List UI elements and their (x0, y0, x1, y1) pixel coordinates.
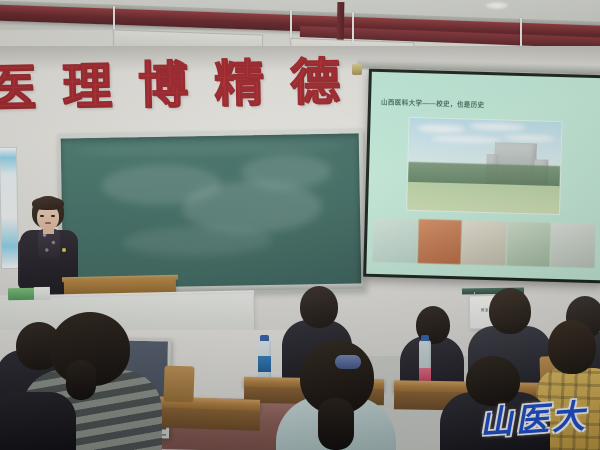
presenter-fringe (32, 197, 64, 210)
presenter-mouth (45, 222, 51, 224)
motto-banner: 医 理 博 精 德 (0, 48, 377, 121)
chalk-smudge (241, 154, 332, 190)
hanging-wire (352, 12, 354, 44)
ceiling-light-glare (486, 2, 508, 9)
banner-char: 医 (0, 63, 37, 114)
desk-front-panel (150, 407, 261, 431)
slide-title: 山西医科大学——校史，也是历史 (381, 96, 485, 109)
slide-surface: 山西医科大学——校史，也是历史 (366, 72, 600, 280)
audience-head (300, 286, 338, 328)
slide-thumbnail (373, 218, 418, 263)
university-watermark: 山 医 大 (469, 392, 596, 447)
wall-poster-left (0, 147, 19, 269)
green-chalkboard (57, 128, 366, 295)
photo-scene: 医 理 博 精 德 山西医科大学——校史，也是历史 (0, 0, 600, 450)
audience-foreground-left (0, 392, 76, 450)
banner-char: 精 (214, 58, 265, 109)
audience-ponytail (318, 398, 354, 450)
slide-thumbnail (462, 220, 507, 265)
bottle-cap (260, 335, 269, 341)
slide-campus-photo (406, 117, 563, 215)
hair-scrunchie (335, 355, 361, 369)
bottle-label (258, 356, 271, 372)
watermark-char: 山 (478, 404, 513, 439)
screen-pull-knob[interactable] (352, 64, 362, 75)
photo-lawn (407, 182, 560, 214)
slide-thumbnail-strip (373, 218, 596, 268)
banner-char: 德 (289, 57, 340, 108)
audience-ponytail (66, 360, 96, 400)
banner-char: 博 (138, 60, 189, 111)
watermark-char: 大 (550, 399, 585, 434)
slide-thumbnail (417, 219, 462, 264)
bottle-cap (421, 335, 429, 341)
chalkboard-surface (61, 133, 362, 290)
slide-thumbnail (506, 222, 551, 267)
banner-char: 理 (62, 61, 113, 112)
chalk-smudge (122, 225, 273, 258)
white-box-prop (34, 287, 50, 300)
audience-head (489, 288, 531, 334)
slide-thumbnail (551, 223, 596, 268)
audience-head (548, 320, 596, 374)
projection-screen: 山西医科大学——校史，也是历史 (363, 69, 600, 284)
chair-back (163, 365, 194, 402)
chalk-smudge (75, 142, 345, 157)
presenter-eye (51, 215, 55, 217)
hanging-wire (520, 18, 522, 46)
presenter-badge (62, 248, 66, 252)
presenter-eye (40, 215, 44, 217)
watermark-char: 医 (514, 401, 549, 436)
